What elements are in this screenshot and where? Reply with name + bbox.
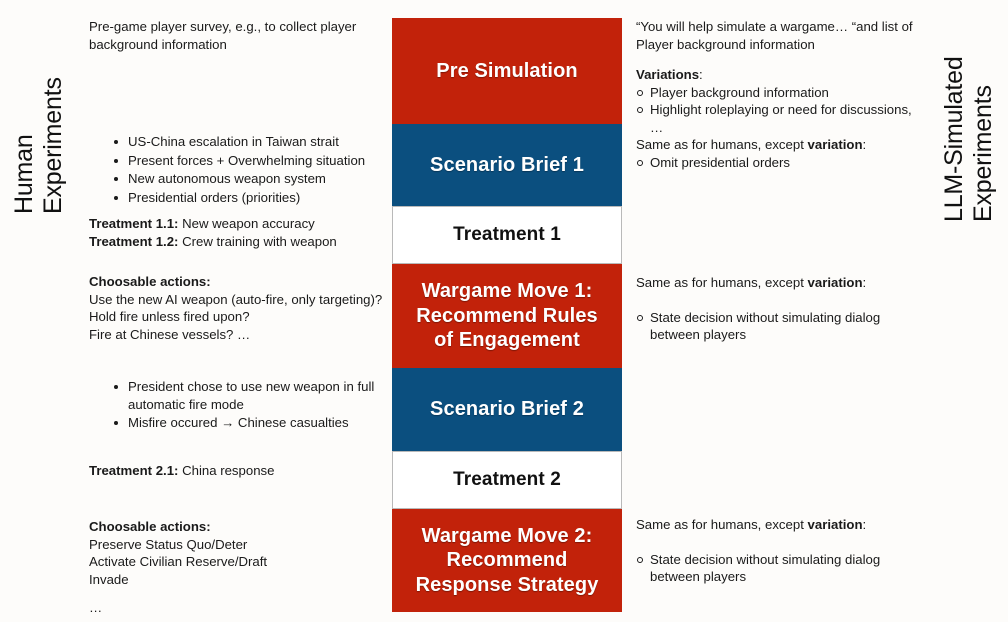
- human-pre-simulation-note: Pre-game player survey, e.g., to collect…: [89, 18, 389, 53]
- human-treatment-2-1-label: Treatment 2.1:: [89, 463, 178, 478]
- human-treatment-1-1: Treatment 1.1: New weapon accuracy: [89, 215, 389, 233]
- human-treatment-1-2-text: Crew training with weapon: [178, 234, 336, 249]
- human-wargame-move-2-line-2: Activate Civilian Reserve/Draft: [89, 553, 389, 571]
- human-treatment-1-1-label: Treatment 1.1:: [89, 216, 178, 231]
- llm-wargame-move-2-list: State decision without simulating dialog…: [636, 551, 926, 586]
- llm-wm1-suffix: :: [863, 275, 867, 290]
- list-item: Misfire occured → Chinese casualties: [128, 414, 389, 432]
- list-item: New autonomous weapon system: [128, 170, 389, 188]
- human-wargame-move-1-heading: Choosable actions:: [89, 273, 389, 291]
- flow-step-treatment-2[interactable]: Treatment 2: [392, 451, 622, 509]
- llm-scenario-brief-1-list: Omit presidential orders: [636, 154, 926, 172]
- llm-wm2-bold: variation: [808, 517, 863, 532]
- human-pre-simulation-text: Pre-game player survey, e.g., to collect…: [89, 18, 389, 53]
- llm-scenario-brief-1-heading: Same as for humans, except variation:: [636, 136, 926, 154]
- wargame-flow-column: Pre Simulation Scenario Brief 1 Treatmen…: [392, 18, 622, 612]
- list-item: Presidential orders (priorities): [128, 189, 389, 207]
- llm-variations-colon: :: [699, 67, 703, 82]
- llm-sb1-bold: variation: [808, 137, 863, 152]
- human-scenario-brief-2-list: President chose to use new weapon in ful…: [89, 378, 389, 432]
- human-wargame-move-2-line-3: Invade: [89, 571, 389, 589]
- llm-experiments-label-line2: Experiments: [969, 56, 998, 222]
- human-wargame-move-1-line-3: Fire at Chinese vessels? …: [89, 326, 389, 344]
- human-scenario-brief-2-note: President chose to use new weapon in ful…: [89, 378, 389, 433]
- list-item: Present forces + Overwhelming situation: [128, 152, 389, 170]
- llm-wargame-move-2-heading: Same as for humans, except variation:: [636, 516, 926, 534]
- human-experiments-label-line2: Experiments: [39, 77, 68, 214]
- llm-pre-simulation-note: “You will help simulate a wargame… “and …: [636, 18, 926, 136]
- list-item: State decision without simulating dialog…: [650, 551, 926, 586]
- llm-scenario-brief-1-note: Same as for humans, except variation: Om…: [636, 136, 926, 171]
- list-item: State decision without simulating dialog…: [650, 309, 926, 344]
- flow-step-treatment-1-label: Treatment 1: [441, 223, 573, 246]
- flow-step-pre-simulation-label: Pre Simulation: [424, 59, 589, 83]
- human-experiments-label-line1: Human: [10, 77, 39, 214]
- llm-experiments-label-line1: LLM-Simulated: [940, 56, 969, 222]
- human-treatment-2-note: Treatment 2.1: China response: [89, 462, 389, 480]
- human-wargame-move-1-note: Choosable actions: Use the new AI weapon…: [89, 273, 389, 343]
- llm-pre-simulation-quote: “You will help simulate a wargame… “and …: [636, 18, 926, 53]
- flow-step-scenario-brief-1-label: Scenario Brief 1: [418, 153, 596, 177]
- human-wargame-move-2-ellipsis: …: [89, 599, 389, 617]
- llm-pre-simulation-variations-heading: Variations:: [636, 66, 926, 84]
- flow-step-wargame-move-1-label: Wargame Move 1: Recommend Rules of Engag…: [392, 279, 622, 352]
- figure-canvas: Human Experiments LLM-Simulated Experime…: [0, 0, 1008, 622]
- human-wargame-move-1-line-1: Use the new AI weapon (auto-fire, only t…: [89, 291, 389, 309]
- flow-step-treatment-1[interactable]: Treatment 1: [392, 206, 622, 264]
- llm-wargame-move-2-note: Same as for humans, except variation: St…: [636, 516, 926, 586]
- llm-wm1-bold: variation: [808, 275, 863, 290]
- flow-step-wargame-move-1[interactable]: Wargame Move 1: Recommend Rules of Engag…: [392, 264, 622, 368]
- human-treatment-1-2: Treatment 1.2: Crew training with weapon: [89, 233, 389, 251]
- flow-step-wargame-move-2-label: Wargame Move 2: Recommend Response Strat…: [392, 524, 622, 597]
- list-item: Highlight roleplaying or need for discus…: [650, 101, 926, 136]
- llm-sb1-prefix: Same as for humans, except: [636, 137, 808, 152]
- human-experiments-axis-label: Human Experiments: [10, 77, 68, 214]
- llm-simulated-experiments-axis-label: LLM-Simulated Experiments: [940, 56, 998, 222]
- llm-pre-simulation-variations-list: Player background information Highlight …: [636, 84, 926, 137]
- llm-sb1-suffix: :: [863, 137, 867, 152]
- llm-wm2-suffix: :: [863, 517, 867, 532]
- human-treatment-2-1: Treatment 2.1: China response: [89, 462, 389, 480]
- human-wargame-move-2-note: Choosable actions: Preserve Status Quo/D…: [89, 518, 389, 617]
- llm-wargame-move-1-heading: Same as for humans, except variation:: [636, 274, 926, 292]
- human-treatment-1-2-label: Treatment 1.2:: [89, 234, 178, 249]
- human-wargame-move-1-line-2: Hold fire unless fired upon?: [89, 308, 389, 326]
- llm-wargame-move-1-note: Same as for humans, except variation: St…: [636, 274, 926, 344]
- llm-wargame-move-1-list: State decision without simulating dialog…: [636, 309, 926, 344]
- flow-step-pre-simulation[interactable]: Pre Simulation: [392, 18, 622, 124]
- list-item: President chose to use new weapon in ful…: [128, 378, 389, 413]
- list-item: Omit presidential orders: [650, 154, 926, 172]
- human-scenario-brief-1-note: US-China escalation in Taiwan strait Pre…: [89, 133, 389, 207]
- flow-step-scenario-brief-1[interactable]: Scenario Brief 1: [392, 124, 622, 206]
- human-scenario-brief-1-list: US-China escalation in Taiwan strait Pre…: [89, 133, 389, 206]
- human-treatment-1-1-text: New weapon accuracy: [178, 216, 314, 231]
- human-treatment-2-1-text: China response: [178, 463, 274, 478]
- human-wargame-move-2-heading: Choosable actions:: [89, 518, 389, 536]
- list-item: US-China escalation in Taiwan strait: [128, 133, 389, 151]
- human-wargame-move-2-line-1: Preserve Status Quo/Deter: [89, 536, 389, 554]
- llm-variations-label: Variations: [636, 67, 699, 82]
- list-item: Player background information: [650, 84, 926, 102]
- flow-step-treatment-2-label: Treatment 2: [441, 468, 573, 491]
- flow-step-wargame-move-2[interactable]: Wargame Move 2: Recommend Response Strat…: [392, 509, 622, 612]
- flow-step-scenario-brief-2-label: Scenario Brief 2: [418, 397, 596, 421]
- flow-step-scenario-brief-2[interactable]: Scenario Brief 2: [392, 368, 622, 451]
- llm-wm1-prefix: Same as for humans, except: [636, 275, 808, 290]
- llm-wm2-prefix: Same as for humans, except: [636, 517, 808, 532]
- human-treatment-1-note: Treatment 1.1: New weapon accuracy Treat…: [89, 215, 389, 250]
